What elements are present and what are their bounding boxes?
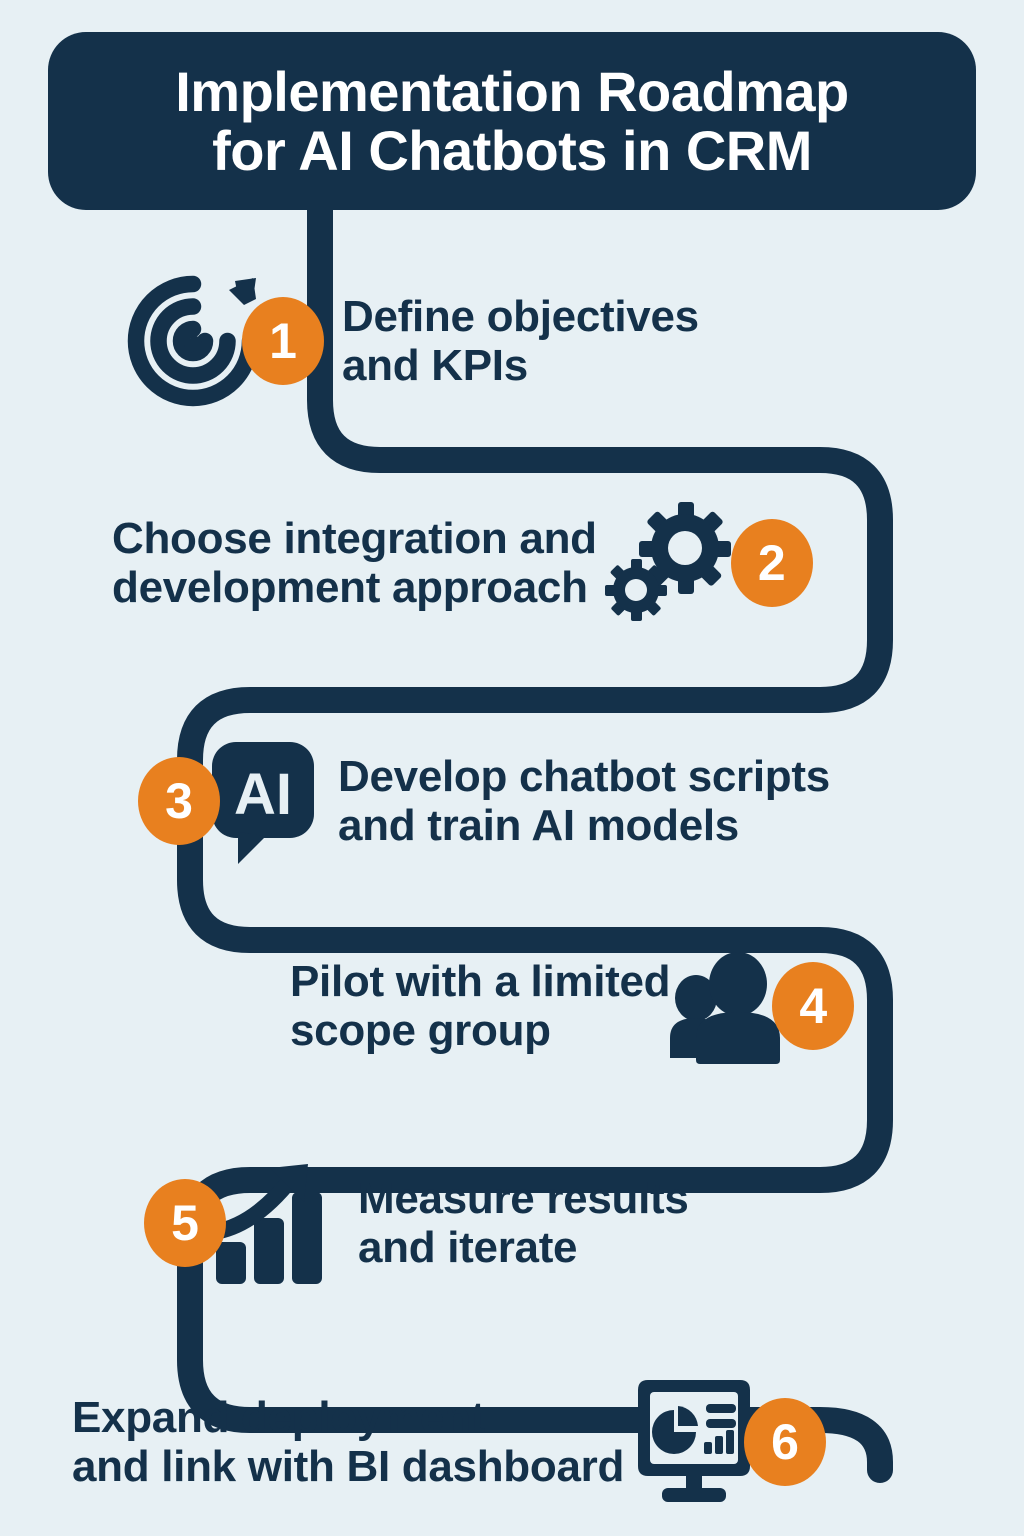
roadmap-step-4[interactable]: Pilot with a limited scope group 4: [290, 946, 854, 1066]
ai-chat-bubble-icon: AI: [204, 736, 322, 866]
growth-chart-icon: [208, 1156, 334, 1290]
step-badge-2: 2: [731, 519, 813, 607]
ai-bubble-text: AI: [234, 762, 292, 827]
step-label-2: Choose integration and development appro…: [112, 514, 597, 613]
step-badge-3: 3: [138, 757, 220, 845]
step-badge-1: 1: [242, 297, 324, 385]
roadmap-step-6[interactable]: Expand deployment and link with BI dashb…: [72, 1376, 826, 1508]
roadmap-step-1[interactable]: 1 Define objectives and KPIs: [118, 266, 699, 416]
step-label-1: Define objectives and KPIs: [342, 292, 699, 391]
step-badge-4: 4: [772, 962, 854, 1050]
page-title: Implementation Roadmap for AI Chatbots i…: [175, 62, 849, 181]
step-badge-6: 6: [744, 1398, 826, 1486]
infographic-canvas: Implementation Roadmap for AI Chatbots i…: [0, 0, 1024, 1536]
bi-dashboard-monitor-icon: [628, 1376, 760, 1508]
step-badge-5: 5: [144, 1179, 226, 1267]
page-title-box: Implementation Roadmap for AI Chatbots i…: [48, 32, 976, 210]
roadmap-step-5[interactable]: 5 Measure results and iterate: [144, 1156, 689, 1290]
people-group-icon: [666, 946, 786, 1066]
roadmap-step-3[interactable]: 3 AI Develop chatbot scripts and train A…: [138, 736, 830, 866]
roadmap-step-2[interactable]: Choose integration and development appro…: [112, 498, 813, 628]
step-label-4: Pilot with a limited scope group: [290, 957, 670, 1056]
step-label-5: Measure results and iterate: [358, 1174, 689, 1273]
step-label-6: Expand deployment and link with BI dashb…: [72, 1393, 624, 1492]
gears-icon: [603, 498, 743, 628]
step-label-3: Develop chatbot scripts and train AI mod…: [338, 752, 830, 851]
